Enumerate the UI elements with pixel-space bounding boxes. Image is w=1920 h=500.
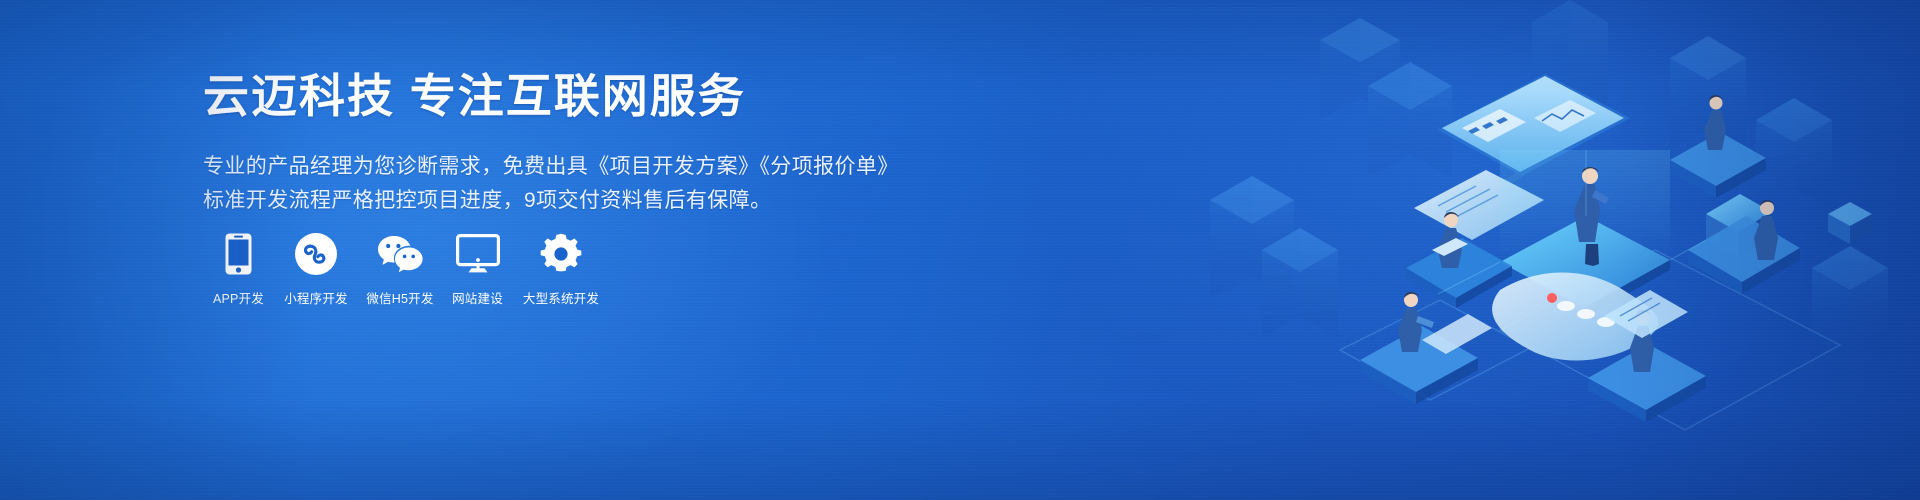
mini-program-icon bbox=[295, 232, 337, 276]
service-item-website[interactable]: 网站建设 bbox=[442, 232, 513, 307]
service-label-website: 网站建设 bbox=[452, 288, 503, 307]
service-label-wechat: 微信H5开发 bbox=[366, 288, 433, 307]
subtitle-line-1: 专业的产品经理为您诊断需求，免费出具《项目开发方案》《分项报价单》 bbox=[203, 150, 903, 184]
person-on-step-right bbox=[1670, 95, 1800, 294]
subtitle-line-2: 标准开发流程严格把控项目进度，9项交付资料售后有保障。 bbox=[203, 184, 903, 218]
person-on-step-left bbox=[1360, 292, 1492, 404]
wechat-icon bbox=[377, 232, 423, 276]
floating-panel bbox=[1604, 290, 1688, 338]
service-item-wechat[interactable]: 微信H5开发 bbox=[358, 232, 442, 307]
service-item-app[interactable]: APP开发 bbox=[203, 232, 274, 307]
monitor-icon bbox=[456, 232, 500, 276]
dashboard-screen bbox=[1438, 74, 1630, 190]
isometric-illustration bbox=[1200, 0, 1920, 500]
service-list: APP开发 小程序开发 bbox=[203, 232, 609, 307]
tower-blocks bbox=[1210, 0, 1888, 360]
mobile-phone-icon bbox=[225, 232, 252, 276]
data-ribbon bbox=[1492, 273, 1658, 361]
gear-icon bbox=[540, 232, 582, 276]
banner-copy: 云迈科技 专注互联网服务 专业的产品经理为您诊断需求，免费出具《项目开发方案》《… bbox=[203, 68, 903, 218]
standing-person-on-platform bbox=[1500, 150, 1670, 318]
subtitle-block: 专业的产品经理为您诊断需求，免费出具《项目开发方案》《分项报价单》 标准开发流程… bbox=[203, 150, 903, 218]
small-cube bbox=[1828, 202, 1872, 244]
hero-banner: 云迈科技 专注互联网服务 专业的产品经理为您诊断需求，免费出具《项目开发方案》《… bbox=[0, 0, 1920, 500]
service-item-system[interactable]: 大型系统开发 bbox=[513, 232, 609, 307]
service-label-miniprogram: 小程序开发 bbox=[284, 288, 348, 307]
service-label-app: APP开发 bbox=[213, 288, 264, 307]
person-on-step-lower-right bbox=[1588, 310, 1706, 422]
seated-person-with-laptop bbox=[1406, 212, 1512, 308]
floating-cube bbox=[1706, 194, 1772, 258]
document-sheet bbox=[1414, 170, 1544, 240]
page-title: 云迈科技 专注互联网服务 bbox=[203, 68, 903, 124]
ground-grid bbox=[1340, 250, 1840, 430]
service-label-system: 大型系统开发 bbox=[523, 288, 599, 307]
service-item-miniprogram[interactable]: 小程序开发 bbox=[274, 232, 358, 307]
